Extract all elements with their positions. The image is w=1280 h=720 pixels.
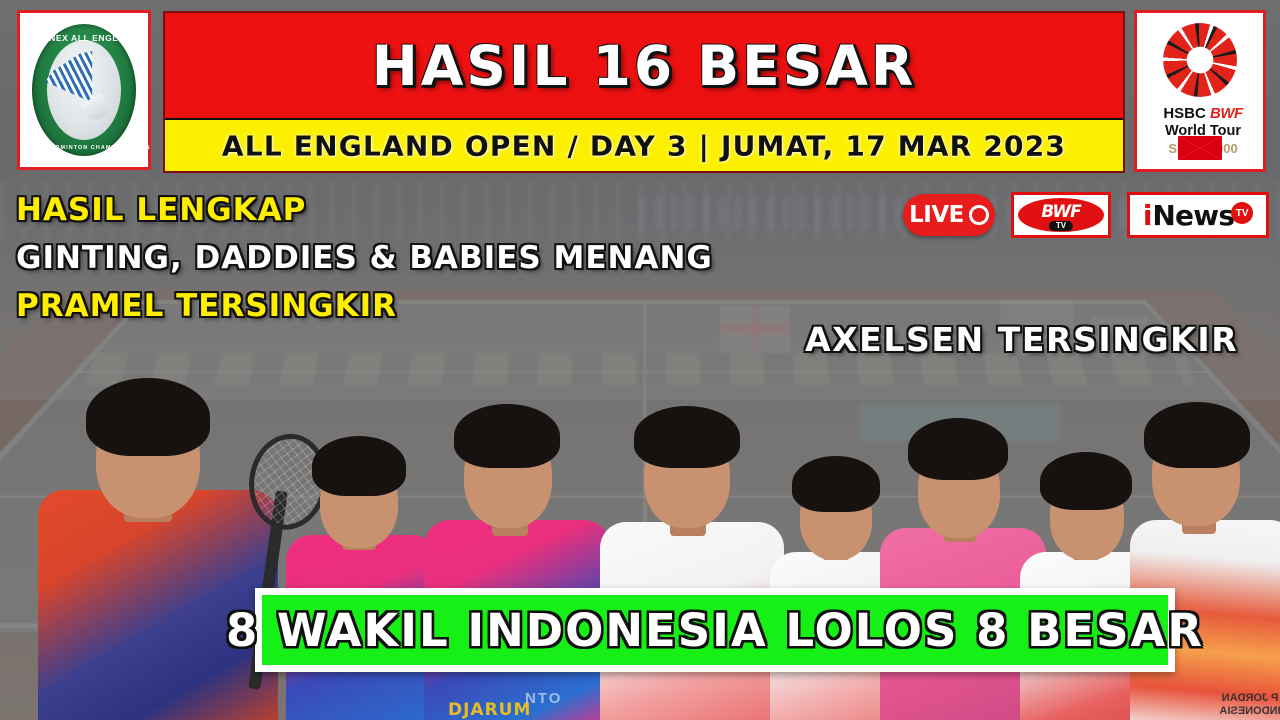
page-title: HASIL 16 BESAR: [165, 34, 1123, 98]
hair: [634, 406, 740, 468]
headline-line-1: HASIL LENGKAP: [16, 192, 306, 228]
hair: [1040, 452, 1132, 510]
hair: [792, 456, 880, 512]
live-label: LIVE: [909, 202, 964, 228]
hair: [86, 378, 210, 456]
subtitle-separator: |: [699, 129, 710, 162]
title-banner: HASIL 16 BESAR ALL ENGLAND OPEN / DAY 3 …: [163, 11, 1125, 173]
player-photo-hendra: DJARUM: [424, 400, 604, 720]
headline-line-3: PRAMEL TERSINGKIR: [16, 288, 397, 324]
bwf-tv-sublabel: TV: [1049, 221, 1073, 231]
green-banner-inner: 8 WAKIL INDONESIA LOLOS 8 BESAR: [262, 595, 1168, 665]
hsbc-hexagon-icon: [1178, 136, 1222, 160]
inews-tv-circle: TV: [1231, 202, 1253, 224]
title-red-band: HASIL 16 BESAR: [165, 13, 1123, 118]
player-photo-white-jersey-male: [600, 400, 780, 720]
bwf-shuttle-ring-icon: [1163, 23, 1237, 97]
bwf-tv-oval: BWF TV: [1018, 198, 1104, 232]
headline-axelsen: AXELSEN TERSINGKIR: [805, 320, 1238, 359]
subtitle-yellow-band: ALL ENGLAND OPEN / DAY 3 | JUMAT, 17 MAR…: [165, 118, 1123, 171]
hair: [454, 404, 560, 468]
green-banner-text: 8 WAKIL INDONESIA LOLOS 8 BESAR: [226, 604, 1204, 657]
subtitle-event: ALL ENGLAND OPEN / DAY 3: [222, 129, 688, 162]
player-photo-ahsan: [286, 420, 436, 720]
hair: [1144, 402, 1250, 468]
logo-top-text: YONEX ALL ENGLAND: [20, 33, 154, 43]
inews-label: News: [1152, 199, 1234, 232]
jersey-back-name: P JORDAN INDONESIA: [1204, 692, 1280, 718]
bwf-logo-line1: HSBC BWF: [1137, 105, 1269, 122]
live-badge: LIVE: [903, 194, 995, 236]
thumbnail-canvas: BNI DJARUM: [0, 0, 1280, 720]
channel-watermark: NTO: [525, 690, 562, 707]
hsbc-text: HSBC: [1163, 105, 1206, 122]
player-photo-ginting: BNI: [20, 370, 290, 720]
bwf-text: BWF: [1210, 105, 1243, 122]
yonex-all-england-logo: YONEX ALL ENGLAND OPEN BADMINTON CHAMPIO…: [17, 10, 151, 170]
headline-line-2: GINTING, DADDIES & BABIES MENANG: [16, 240, 713, 276]
bottom-green-banner: 8 WAKIL INDONESIA LOLOS 8 BESAR: [255, 588, 1175, 672]
player-photo-jordan: P JORDAN INDONESIA: [1130, 400, 1280, 720]
subtitle-date: JUMAT, 17 MAR 2023: [721, 129, 1066, 162]
hair: [312, 436, 406, 496]
bwf-tv-label: BWF: [1041, 202, 1080, 222]
record-dot-icon: [969, 205, 989, 225]
logo-bottom-text: OPEN BADMINTON CHAMPIONSHIPS: [20, 145, 154, 151]
inews-tv-badge: i News TV: [1127, 192, 1269, 238]
subtitle-row: ALL ENGLAND OPEN / DAY 3 | JUMAT, 17 MAR…: [165, 129, 1123, 162]
jersey-sponsor-text: DJARUM: [448, 700, 531, 720]
player-photo-pink-jersey-male: [880, 410, 1040, 720]
inews-prefix: i: [1143, 199, 1153, 232]
bwf-tv-badge: BWF TV: [1011, 192, 1111, 238]
hsbc-bwf-world-tour-logo: HSBC BWF World Tour Super 1000: [1134, 10, 1266, 172]
hair: [908, 418, 1008, 480]
